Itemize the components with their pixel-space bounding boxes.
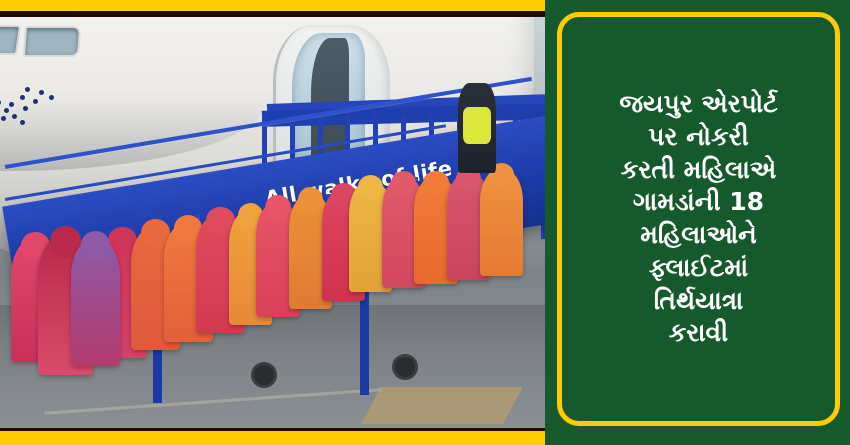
passenger-figure (480, 169, 524, 276)
passenger-head-scarf (358, 175, 383, 199)
cockpit-window (0, 25, 21, 55)
photo-panel: goIndiGo All walks of life indigo.in/imp… (0, 0, 545, 445)
stairs-support-leg (360, 288, 369, 395)
tarmac-patch (361, 387, 522, 424)
headline-line: કરાવી (669, 317, 728, 349)
passenger-head-scarf (265, 195, 290, 220)
headline-line: ફ્લાઈટમાં (649, 252, 748, 284)
headline-line: ગામડાંની 18 (633, 186, 764, 218)
top-yellow-band (0, 0, 545, 11)
passenger-head-scarf (298, 187, 323, 212)
headline-panel: જયપુર એરપોર્ટપર નોકરીકરતી મહિલાએગામડાંની… (545, 0, 850, 445)
headline-line: પર નોકરી (648, 121, 748, 153)
stairs-wheel (251, 362, 277, 388)
news-photo: goIndiGo All walks of life indigo.in/imp… (0, 17, 545, 428)
passenger-figure (71, 239, 120, 366)
passenger-head-scarf (81, 231, 109, 259)
headline-line: તિર્થયાત્રા (654, 285, 744, 317)
passenger-head-scarf (391, 171, 416, 195)
hi-vis-vest (463, 107, 490, 144)
news-card: goIndiGo All walks of life indigo.in/imp… (0, 0, 850, 445)
headline-line: મહિલાઓને (640, 219, 757, 251)
passenger-head-scarf (423, 171, 448, 195)
headline-text-block: જયપુર એરપોર્ટપર નોકરીકરતી મહિલાએગામડાંની… (563, 16, 834, 421)
indigo-dot-logo (0, 82, 76, 142)
headline-line: કરતી મહિલાએ (621, 154, 776, 186)
cockpit-window (23, 26, 81, 57)
bottom-yellow-band (0, 431, 545, 445)
headline-line: જયપુર એરપોર્ટ (619, 88, 777, 120)
